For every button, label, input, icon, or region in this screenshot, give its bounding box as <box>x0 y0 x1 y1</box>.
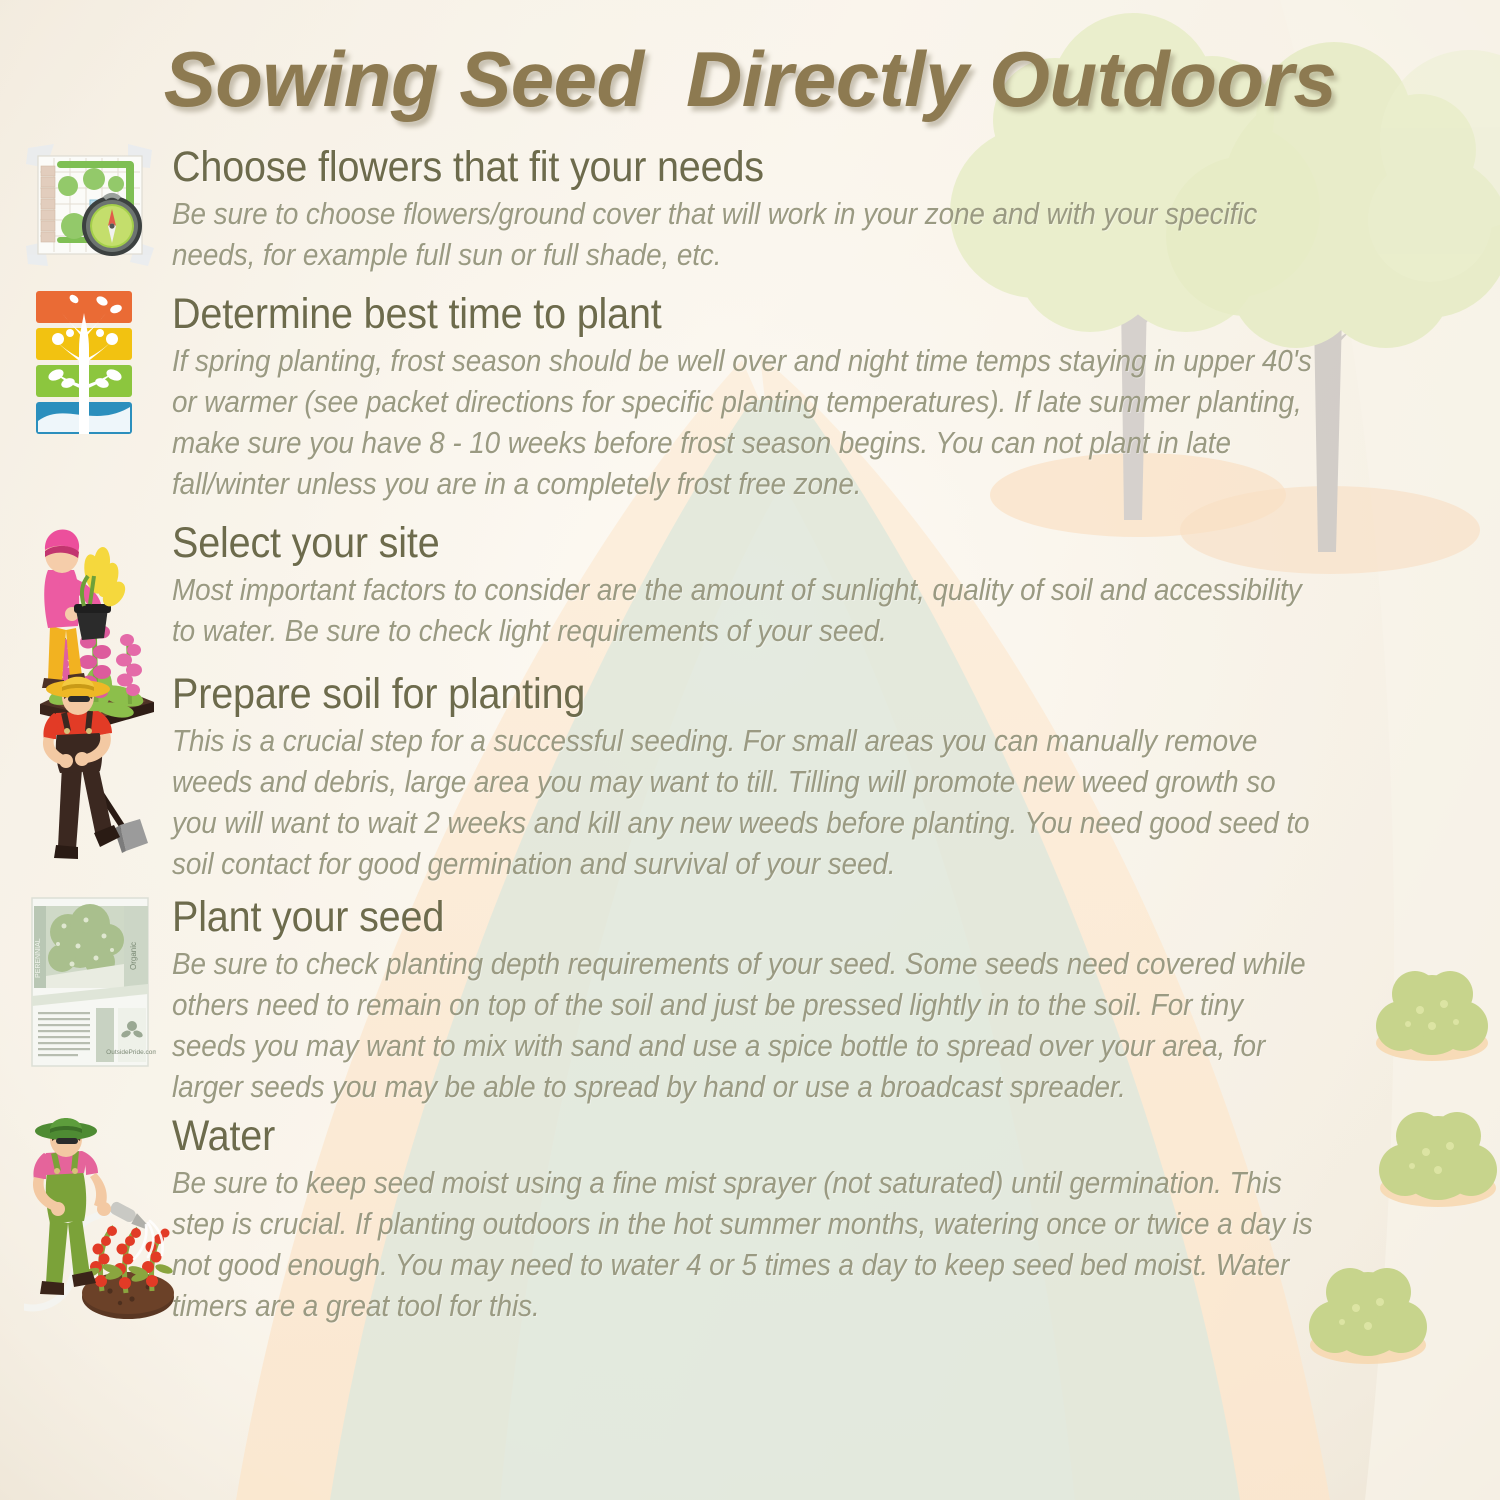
step-heading: Plant your seed <box>172 892 1340 942</box>
packet-label-right: Organic <box>129 942 138 970</box>
steps-list: Choose flowers that fit your needs Be su… <box>0 142 1500 1326</box>
step-item-plant-seed: PERENNIAL Organic <box>0 892 1500 1107</box>
packet-label-left: PERENNIAL <box>35 938 42 978</box>
step-body: Most important factors to consider are t… <box>172 569 1315 651</box>
poster-title-container: Sowing Seed Directly Outdoors <box>0 34 1500 125</box>
step-item-choose-flowers: Choose flowers that fit your needs Be su… <box>0 142 1500 275</box>
garden-plan-compass-icon <box>24 142 164 270</box>
four-seasons-tree-icon <box>24 289 164 441</box>
page-title: Sowing Seed Directly Outdoors <box>164 34 1337 125</box>
farmer-with-shovel-icon <box>24 669 164 869</box>
gardener-watering-hose-icon <box>24 1111 164 1323</box>
step-heading: Water <box>172 1111 1340 1161</box>
step-body: Be sure to keep seed moist using a fine … <box>172 1162 1315 1326</box>
step-heading: Choose flowers that fit your needs <box>172 142 1340 192</box>
step-heading: Determine best time to plant <box>172 289 1340 339</box>
seed-packet-icon: PERENNIAL Organic <box>24 892 164 1072</box>
step-item-select-site: Select your site Most important factors … <box>0 518 1500 651</box>
infographic-poster: Sowing Seed Directly Outdoors <box>0 0 1500 1500</box>
step-item-water: Water Be sure to keep seed moist using a… <box>0 1111 1500 1326</box>
step-body: This is a crucial step for a successful … <box>172 720 1315 884</box>
step-body: Be sure to choose flowers/ground cover t… <box>172 193 1315 275</box>
step-heading: Select your site <box>172 518 1340 568</box>
step-item-determine-time: Determine best time to plant If spring p… <box>0 289 1500 504</box>
step-item-prepare-soil: Prepare soil for planting This is a cruc… <box>0 669 1500 884</box>
step-heading: Prepare soil for planting <box>172 669 1340 719</box>
packet-brand: OutsidePride.com <box>106 1049 156 1056</box>
step-body: If spring planting, frost season should … <box>172 340 1315 504</box>
step-body: Be sure to check planting depth requirem… <box>172 943 1315 1107</box>
